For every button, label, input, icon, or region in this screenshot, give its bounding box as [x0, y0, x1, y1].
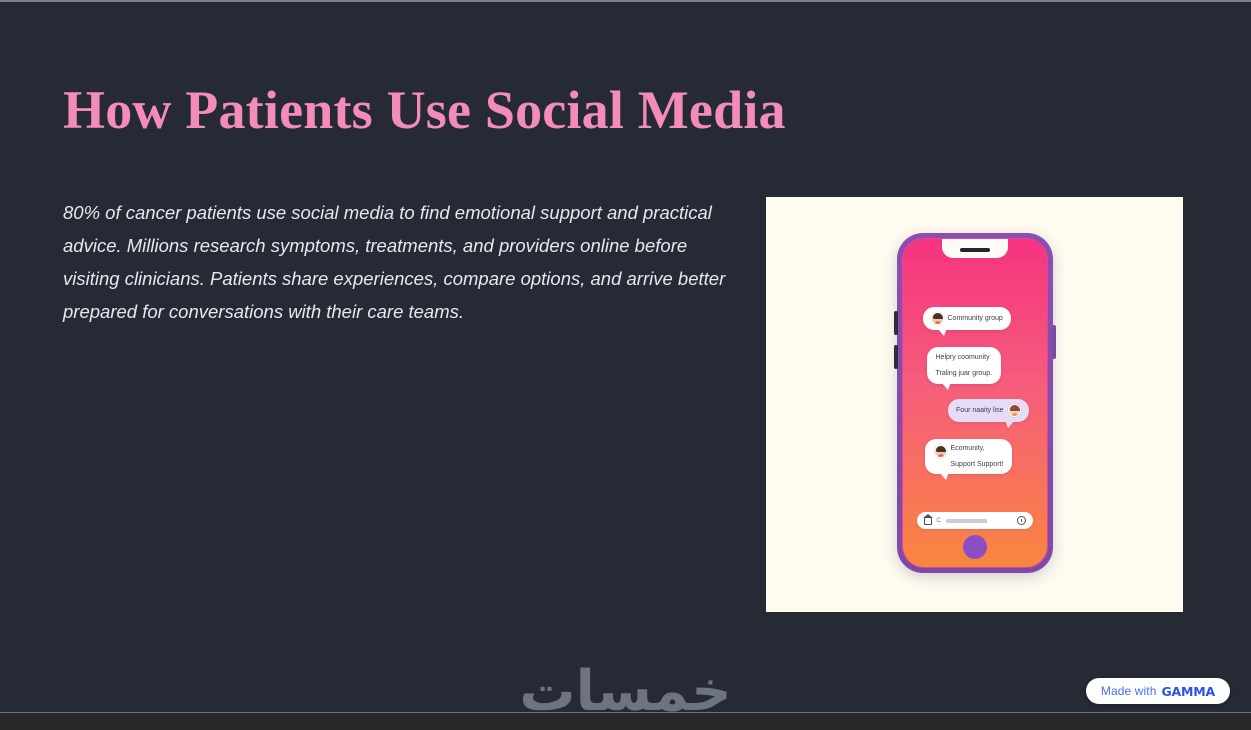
message-input-bar[interactable]: C: [917, 512, 1033, 529]
chat-bubble: Community group: [923, 307, 1011, 330]
avatar: [931, 312, 944, 325]
phone-side-button-up-icon: [894, 311, 898, 335]
illustration-panel: Community group Helpry coomunity Traling…: [766, 197, 1183, 612]
bubble-tail: [1005, 420, 1015, 428]
phone-power-button-icon: [1052, 325, 1056, 359]
chat-bubble-text: Community group: [948, 315, 1003, 322]
home-icon: [924, 517, 932, 525]
avatar: [934, 445, 947, 458]
chat-bubble: Helpry coomunity Traling juar group.: [927, 347, 1002, 384]
phone-screen: Community group Helpry coomunity Traling…: [902, 238, 1048, 568]
chat-bubble-text: Ecomunity,: [951, 445, 1004, 452]
slide-canvas: How Patients Use Social Media 80% of can…: [0, 2, 1251, 712]
input-prefix: C: [937, 518, 941, 524]
speaker-grill-icon: [960, 248, 990, 252]
phone-mockup: Community group Helpry coomunity Traling…: [897, 233, 1053, 573]
phone-notch: [942, 239, 1008, 258]
chat-bubble: Ecomunity, Support Support!: [925, 439, 1013, 474]
chat-bubble-text: Traling juar group.: [936, 370, 993, 377]
badge-made-with-label: Made with: [1101, 684, 1157, 698]
bubble-tail: [937, 328, 947, 336]
home-button[interactable]: [963, 535, 987, 559]
chat-bubble-text: Support Support!: [951, 461, 1004, 468]
made-with-gamma-badge[interactable]: Made with GAMMA: [1086, 678, 1230, 704]
bubble-tail: [939, 472, 949, 480]
body-paragraph: 80% of cancer patients use social media …: [63, 196, 727, 328]
badge-brand-label: GAMMA: [1162, 684, 1216, 699]
avatar: [1008, 404, 1021, 417]
bubble-tail: [941, 382, 951, 390]
chat-bubble-text: Helpry coomunity: [936, 354, 990, 361]
chat-bubble: Four naaity lise: [948, 399, 1028, 422]
clock-icon: [1017, 516, 1026, 525]
input-placeholder-line: [946, 519, 1012, 523]
page-title: How Patients Use Social Media: [63, 78, 786, 142]
bottom-bar: [0, 712, 1251, 730]
chat-bubble-text: Four naaity lise: [956, 407, 1003, 414]
phone-side-button-down-icon: [894, 345, 898, 369]
